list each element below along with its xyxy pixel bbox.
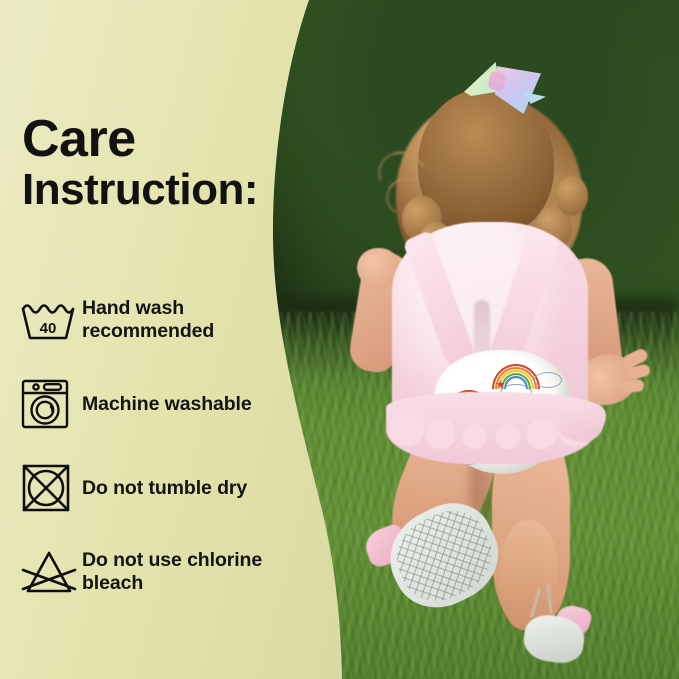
no-chlorine-bleach-icon [20,548,82,596]
title-line-1: Care [22,113,258,166]
care-label-hand-wash: Hand wash recommended [82,297,214,343]
hand-wash-tub-icon: 40 [20,299,82,341]
care-label-no-tumble-dry: Do not tumble dry [82,477,247,500]
care-row-no-tumble-dry: Do not tumble dry [20,446,292,530]
care-row-hand-wash: 40 Hand wash recommended [20,278,292,362]
finger [622,379,645,393]
care-label-machine-washable: Machine washable [82,393,252,416]
hair-curl [556,176,588,216]
care-instruction-list: 40 Hand wash recommended Machine washabl… [20,278,292,614]
page-title: Care Instruction: [22,113,258,213]
no-tumble-dry-icon [20,462,82,514]
care-label-no-chlorine-bleach: Do not use chlorine bleach [82,549,262,595]
care-row-machine-washable: Machine washable [20,362,292,446]
hand-wash-temperature: 40 [40,320,57,337]
title-line-2: Instruction: [22,168,258,213]
washing-machine-icon [20,378,82,430]
care-row-no-chlorine-bleach: Do not use chlorine bleach [20,530,292,614]
care-instruction-card: Care Instruction: 40 Hand wash recommend… [0,0,679,679]
